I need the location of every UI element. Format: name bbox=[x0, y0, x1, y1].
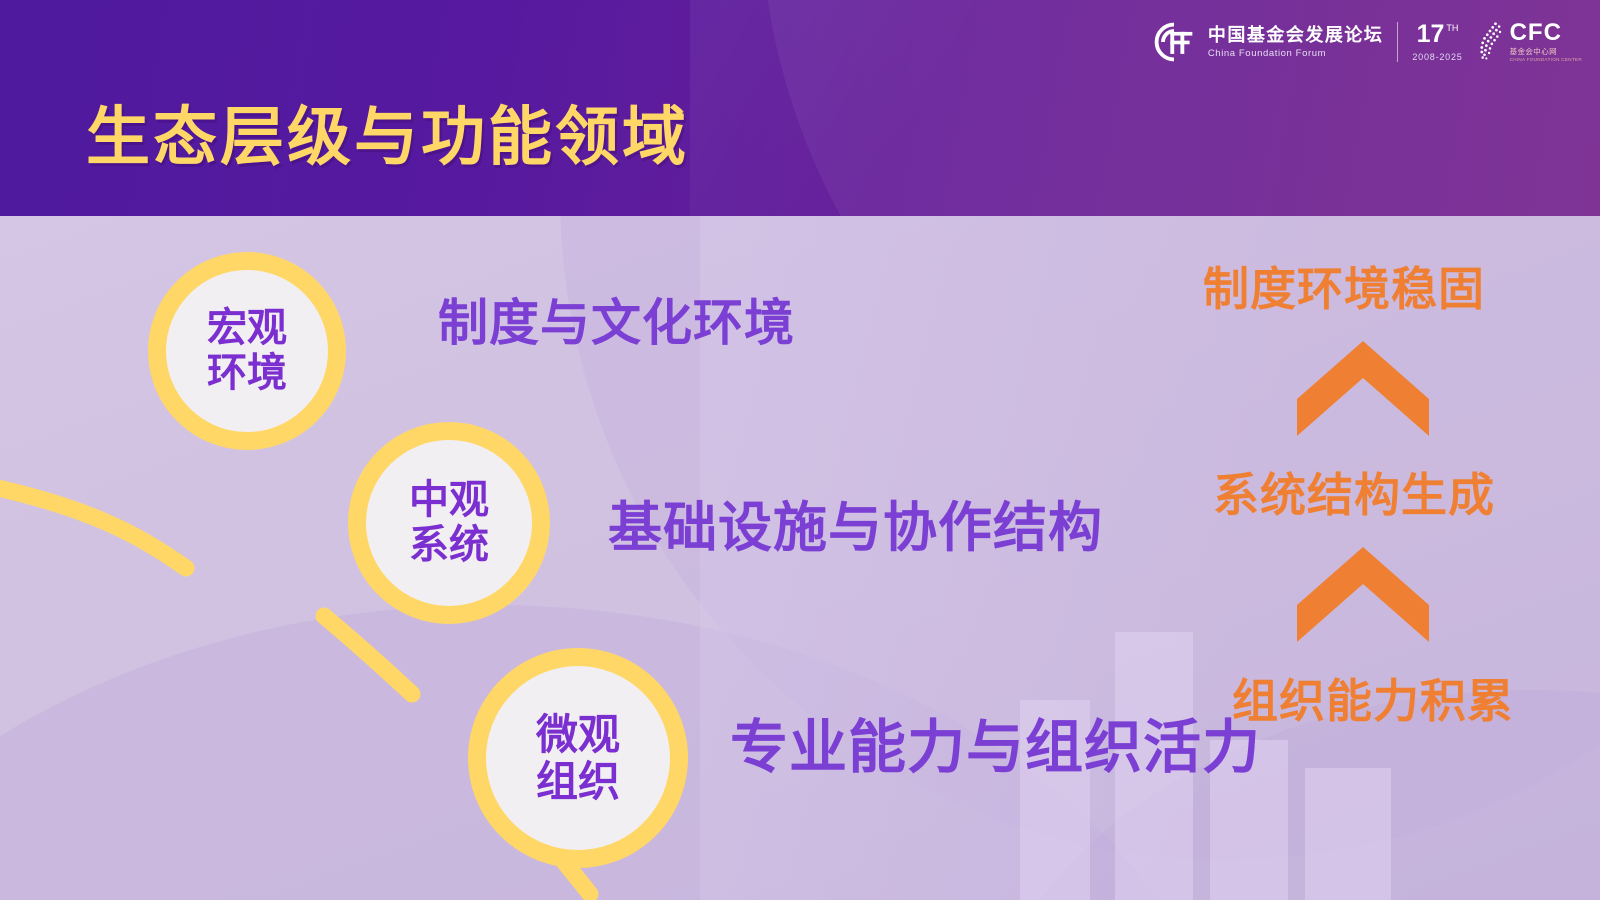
cff-name-en: China Foundation Forum bbox=[1208, 49, 1384, 59]
domain-label-meso: 基础设施与协作结构 bbox=[608, 483, 1103, 562]
cfc-abbr: CFC bbox=[1510, 21, 1582, 45]
level-node-macro-line2: 环境 bbox=[207, 351, 287, 396]
outcome-label-micro: 组织能力积累 bbox=[1232, 665, 1514, 731]
cfc-logo-text: CFC 基金会中心网 CHINA FOUNDATION CENTER bbox=[1510, 21, 1582, 62]
cfc-logo-mark bbox=[1477, 21, 1503, 63]
cfc-name-cn: 基金会中心网 bbox=[1510, 48, 1582, 56]
cff-logo-text: 中国基金会发展论坛 China Foundation Forum bbox=[1208, 26, 1384, 59]
logo-divider bbox=[1397, 22, 1398, 62]
cff-name-cn: 中国基金会发展论坛 bbox=[1208, 26, 1384, 44]
cff-logo-mark bbox=[1152, 20, 1196, 64]
chevron-up-icon-lower bbox=[1297, 547, 1429, 642]
page-title: 生态层级与功能领域 bbox=[86, 86, 689, 178]
edition-suffix: TH bbox=[1446, 24, 1458, 33]
domain-label-micro: 专业能力与组织活力 bbox=[730, 700, 1261, 784]
edition-number: 17 bbox=[1417, 22, 1445, 47]
level-node-meso: 中观 系统 bbox=[348, 422, 550, 624]
slide-header: 中国基金会发展论坛 China Foundation Forum 17 TH 2… bbox=[0, 0, 1600, 216]
level-node-micro-line1: 微观 bbox=[536, 711, 620, 758]
level-node-macro: 宏观 环境 bbox=[148, 252, 346, 450]
level-node-micro-line2: 组织 bbox=[536, 758, 620, 805]
level-node-macro-line1: 宏观 bbox=[207, 306, 287, 351]
cfc-logo: CFC 基金会中心网 CHINA FOUNDATION CENTER bbox=[1477, 21, 1582, 63]
chevron-up-icon-upper bbox=[1297, 341, 1429, 436]
level-node-meso-line2: 系统 bbox=[409, 523, 489, 568]
slide-root: 中国基金会发展论坛 China Foundation Forum 17 TH 2… bbox=[0, 0, 1600, 900]
level-node-micro: 微观 组织 bbox=[468, 648, 688, 868]
domain-label-macro: 制度与文化环境 bbox=[438, 283, 795, 355]
level-node-meso-line1: 中观 bbox=[409, 478, 489, 523]
edition-badge: 17 TH 2008-2025 bbox=[1412, 22, 1462, 62]
cfc-name-en: CHINA FOUNDATION CENTER bbox=[1510, 58, 1582, 63]
outcome-label-macro: 制度环境稳固 bbox=[1203, 253, 1485, 319]
header-diagonal-decor bbox=[690, 0, 1110, 216]
cff-logo: 中国基金会发展论坛 China Foundation Forum bbox=[1152, 20, 1384, 64]
edition-years: 2008-2025 bbox=[1412, 53, 1462, 62]
outcome-label-meso: 系统结构生成 bbox=[1213, 459, 1495, 525]
logo-bar: 中国基金会发展论坛 China Foundation Forum 17 TH 2… bbox=[1152, 14, 1582, 70]
